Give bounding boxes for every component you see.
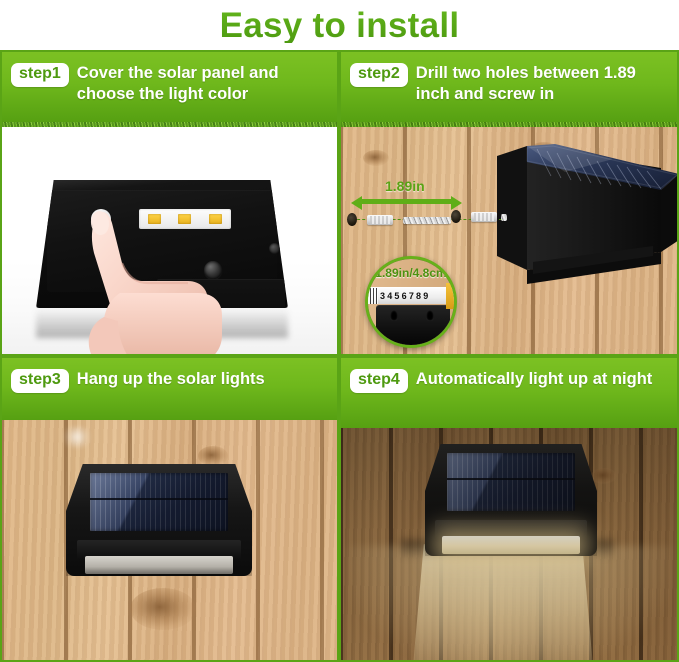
- solar-panel: [90, 473, 228, 531]
- wall-plug: [367, 215, 393, 225]
- light-cone: [413, 544, 593, 660]
- keyhole-slot: [426, 310, 434, 321]
- step2-text: Drill two holes between 1.89 inch and sc…: [416, 62, 671, 104]
- panel-seam: [447, 478, 574, 480]
- step4-header: step4 Automatically light up at night: [341, 358, 677, 428]
- inset-measure-label: 1.89in/4.8cm: [368, 266, 454, 280]
- step-panel-2: step2 Drill two holes between 1.89 inch …: [339, 50, 679, 356]
- screw-hole: [269, 243, 280, 254]
- wood-knot: [198, 446, 228, 466]
- inset-lamp-back: [376, 305, 450, 345]
- wood-knot: [130, 588, 196, 630]
- step1-image: [2, 122, 337, 354]
- step-panel-3: step3 Hang up the solar lights: [0, 356, 339, 662]
- step3-header: step3 Hang up the solar lights: [2, 358, 337, 420]
- screw: [403, 217, 451, 224]
- step3-image: [2, 420, 337, 660]
- step3-badge: step3: [11, 369, 69, 393]
- step4-text: Automatically light up at night: [416, 368, 653, 390]
- title-bar: Easy to install: [0, 0, 679, 50]
- step2-image: 1.89in: [341, 122, 677, 354]
- mounted-solar-lamp-lit: [425, 444, 597, 556]
- pointing-hand: [62, 197, 232, 354]
- step1-text: Cover the solar panel and choose the lig…: [77, 62, 331, 104]
- steps-grid: step1 Cover the solar panel and choose t…: [0, 50, 679, 662]
- drill-hole-left: [347, 213, 357, 226]
- step4-badge: step4: [350, 369, 408, 393]
- step2-badge: step2: [350, 63, 408, 87]
- mounted-solar-lamp: [66, 464, 252, 576]
- wood-knot: [363, 150, 389, 166]
- step4-image: [341, 428, 677, 660]
- lamp-light-strip: [85, 556, 234, 574]
- step1-badge: step1: [11, 63, 69, 87]
- spacing-label: 1.89in: [385, 178, 425, 194]
- keyhole-slot: [390, 310, 398, 321]
- screw: [501, 214, 507, 221]
- measurement-inset: 3456789 1.89in/4.8cm: [365, 256, 457, 348]
- step-panel-1: step1 Cover the solar panel and choose t…: [0, 50, 339, 356]
- step3-text: Hang up the solar lights: [77, 368, 265, 390]
- solar-lamp-angled: [493, 144, 677, 294]
- wall-plug: [471, 212, 497, 222]
- drill-hole-right: [451, 210, 461, 223]
- page-title: Easy to install: [220, 8, 460, 43]
- lamp-light-strip: [442, 536, 580, 554]
- tape-end: [446, 283, 456, 309]
- step2-header: step2 Drill two holes between 1.89 inch …: [341, 52, 677, 122]
- spacing-arrow-line: [361, 199, 453, 204]
- panel-seam: [90, 498, 228, 500]
- step1-header: step1 Cover the solar panel and choose t…: [2, 52, 337, 122]
- install-infographic: Easy to install step1 Cover the solar pa…: [0, 0, 679, 662]
- spacing-arrow-right: [451, 196, 462, 210]
- solar-panel: [447, 453, 574, 511]
- sun-glare: [60, 426, 94, 448]
- spacing-arrow-left: [351, 196, 362, 210]
- tape-measure: 3456789: [365, 287, 457, 304]
- step-panel-4: step4 Automatically light up at night: [339, 356, 679, 662]
